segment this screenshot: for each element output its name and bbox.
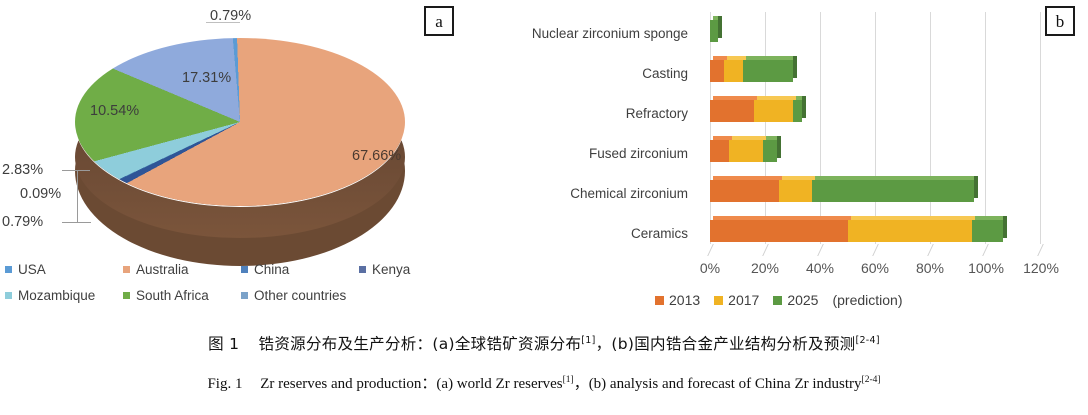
xtick-label-40: 40% xyxy=(795,260,845,276)
legend-swatch-icon-2025 xyxy=(773,296,782,305)
pie-legend-item-china[interactable]: China xyxy=(241,262,359,277)
bar-legend-label-prediction: (prediction) xyxy=(832,292,902,308)
leader-line-kenya xyxy=(77,170,91,223)
caption-cn-ref2: [2-4] xyxy=(855,335,879,346)
bar-category-label-fused-zirconium: Fused zirconium xyxy=(589,146,688,161)
bar-segment-2013-ceramics[interactable] xyxy=(710,220,848,242)
pie-legend-item-australia[interactable]: Australia xyxy=(123,262,241,277)
panel-a-pie-chart: a 0.79% 17.31% 10.54% 67.66% 2.83% 0.09%… xyxy=(0,0,470,320)
bar-legend-note-prediction: (prediction) xyxy=(832,292,902,308)
bar-category-label-ceramics: Ceramics xyxy=(631,226,688,241)
bar-category-label-refractory: Refractory xyxy=(626,106,688,121)
gridline-20 xyxy=(765,12,766,244)
bar-legend-label-2017: 2017 xyxy=(728,292,759,308)
bar-legend-item-2013[interactable]: 2013 xyxy=(655,292,700,308)
legend-swatch-icon-kenya xyxy=(359,266,366,273)
bar-segment-2017-ceramics[interactable] xyxy=(848,220,972,242)
figure-container: a 0.79% 17.31% 10.54% 67.66% 2.83% 0.09%… xyxy=(0,0,1088,415)
xtick-mark-0 xyxy=(707,244,724,256)
pie-3d-top xyxy=(75,38,405,206)
pie-callout-australia: 67.66% xyxy=(352,148,401,164)
xtick-mark-20 xyxy=(762,244,779,256)
legend-swatch-icon-south-africa xyxy=(123,292,130,299)
pie-graphic: 0.79% 17.31% 10.54% 67.66% 2.83% 0.09% 0… xyxy=(30,18,450,258)
gridline-120 xyxy=(1040,12,1041,244)
legend-swatch-icon-other-countries xyxy=(241,292,248,299)
pie-legend-label-mozambique: Mozambique xyxy=(18,288,95,303)
pie-legend-label-other-countries: Other countries xyxy=(254,288,346,303)
leader-line-usa xyxy=(206,22,240,23)
bar-category-label-chemical-zirconium: Chemical zirconium xyxy=(570,186,688,201)
caption-english: Fig. 1 Zr reserves and production：(a) wo… xyxy=(0,372,1088,393)
pie-callout-mozambique: 2.83% xyxy=(2,162,43,178)
gridline-40 xyxy=(820,12,821,244)
bar-legend-label-2025: 2025 xyxy=(787,292,818,308)
bar-segment-2017-refractory[interactable] xyxy=(754,100,793,122)
gridline-60 xyxy=(875,12,876,244)
xtick-label-100: 100% xyxy=(958,260,1014,276)
xtick-label-0: 0% xyxy=(685,260,735,276)
pie-legend-item-south-africa[interactable]: South Africa xyxy=(123,288,241,303)
bar-segment-2017-casting[interactable] xyxy=(724,60,743,82)
pie-legend-item-mozambique[interactable]: Mozambique xyxy=(5,288,123,303)
legend-swatch-icon-2017 xyxy=(714,296,723,305)
bar-category-label-nuclear-zirconium-sponge: Nuclear zirconium sponge xyxy=(532,26,688,41)
pie-legend-label-australia: Australia xyxy=(136,262,189,277)
leader-line-kenya-stub xyxy=(62,222,78,223)
caption-en-text: Zr reserves and production：(a) world Zr … xyxy=(260,376,562,392)
caption-cn-mid: ，(b)国内锆合金产业结构分析及预测 xyxy=(596,335,856,353)
legend-swatch-icon-australia xyxy=(123,266,130,273)
bar-segment-2017-fused[interactable] xyxy=(729,140,763,162)
caption-cn-prefix: 图 1 xyxy=(208,335,239,353)
bar-segment-2013-fused[interactable] xyxy=(710,140,729,162)
caption-chinese: 图 1 锆资源分布及生产分析：(a)全球锆矿资源分布[1]，(b)国内锆合金产业… xyxy=(0,332,1088,354)
caption-en-ref2: [2-4] xyxy=(862,375,881,385)
gridline-0 xyxy=(710,12,711,244)
pie-legend-item-usa[interactable]: USA xyxy=(5,262,123,277)
panel-b-badge-label: b xyxy=(1056,13,1065,30)
legend-swatch-icon-mozambique xyxy=(5,292,12,299)
bar-segment-2025-refractory[interactable] xyxy=(793,100,802,122)
gridline-100 xyxy=(985,12,986,244)
xtick-mark-100 xyxy=(982,244,999,256)
xtick-label-120: 120% xyxy=(1013,260,1069,276)
legend-swatch-icon-usa xyxy=(5,266,12,273)
pie-legend-label-usa: USA xyxy=(18,262,46,277)
bar-segment-2025-casting[interactable] xyxy=(743,60,793,82)
pie-legend-label-kenya: Kenya xyxy=(372,262,410,277)
caption-cn-ref1: [1] xyxy=(581,335,595,346)
bar-legend-item-2025[interactable]: 2025 xyxy=(773,292,818,308)
xtick-mark-80 xyxy=(927,244,944,256)
xtick-mark-120 xyxy=(1037,244,1054,256)
caption-en-ref1: [1] xyxy=(563,375,574,385)
bar-plot-area: Nuclear zirconium sponge Casting xyxy=(710,12,1040,244)
xtick-mark-40 xyxy=(817,244,834,256)
bar-segment-2025-nuclear[interactable] xyxy=(710,20,718,42)
bar-segment-2013-chemical[interactable] xyxy=(710,180,779,202)
pie-legend: USA Australia China Kenya Mozambique Sou… xyxy=(5,262,465,303)
pie-callout-kenya: 0.79% xyxy=(2,214,43,230)
panel-b-bar-chart: b Nuclear zirconium sponge xyxy=(500,0,1088,320)
bar-segment-2025-chemical[interactable] xyxy=(812,180,974,202)
caption-cn-text: 锆资源分布及生产分析：(a)全球锆矿资源分布 xyxy=(259,335,582,353)
panel-b-badge: b xyxy=(1045,6,1075,36)
pie-callout-south-africa: 10.54% xyxy=(90,103,139,119)
bar-legend: 2013 2017 2025 (prediction) xyxy=(655,292,903,308)
xtick-mark-60 xyxy=(872,244,889,256)
bar-segment-2025-ceramics[interactable] xyxy=(972,220,1003,242)
legend-swatch-icon-china xyxy=(241,266,248,273)
pie-legend-label-south-africa: South Africa xyxy=(136,288,209,303)
bar-segment-2025-fused[interactable] xyxy=(763,140,777,162)
pie-callout-china: 17.31% xyxy=(182,70,231,86)
xtick-label-20: 20% xyxy=(740,260,790,276)
xtick-label-80: 80% xyxy=(905,260,955,276)
pie-legend-label-china: China xyxy=(254,262,289,277)
bar-segment-2013-casting[interactable] xyxy=(710,60,724,82)
bar-legend-item-2017[interactable]: 2017 xyxy=(714,292,759,308)
bar-legend-label-2013: 2013 xyxy=(669,292,700,308)
bar-category-label-casting: Casting xyxy=(642,66,688,81)
pie-callout-other-countries: 0.09% xyxy=(20,186,61,202)
caption-en-mid: ，(b) analysis and forecast of China Zr i… xyxy=(574,376,862,392)
bar-segment-2013-refractory[interactable] xyxy=(710,100,754,122)
caption-en-prefix: Fig. 1 xyxy=(207,376,242,392)
pie-legend-item-other-countries[interactable]: Other countries xyxy=(241,288,465,303)
legend-swatch-icon-2013 xyxy=(655,296,664,305)
bar-segment-2017-chemical[interactable] xyxy=(779,180,812,202)
gridline-80 xyxy=(930,12,931,244)
xtick-label-60: 60% xyxy=(850,260,900,276)
pie-legend-item-kenya[interactable]: Kenya xyxy=(359,262,465,277)
